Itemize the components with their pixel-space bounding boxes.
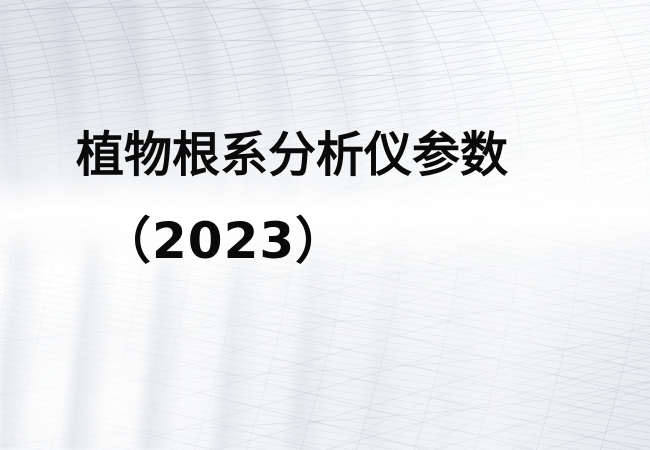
slide-subtitle-year: （2023） <box>101 210 346 272</box>
slide-title: 植物根系分析仪参数 <box>76 124 508 186</box>
title-slide: 植物根系分析仪参数 （2023） <box>0 0 650 450</box>
